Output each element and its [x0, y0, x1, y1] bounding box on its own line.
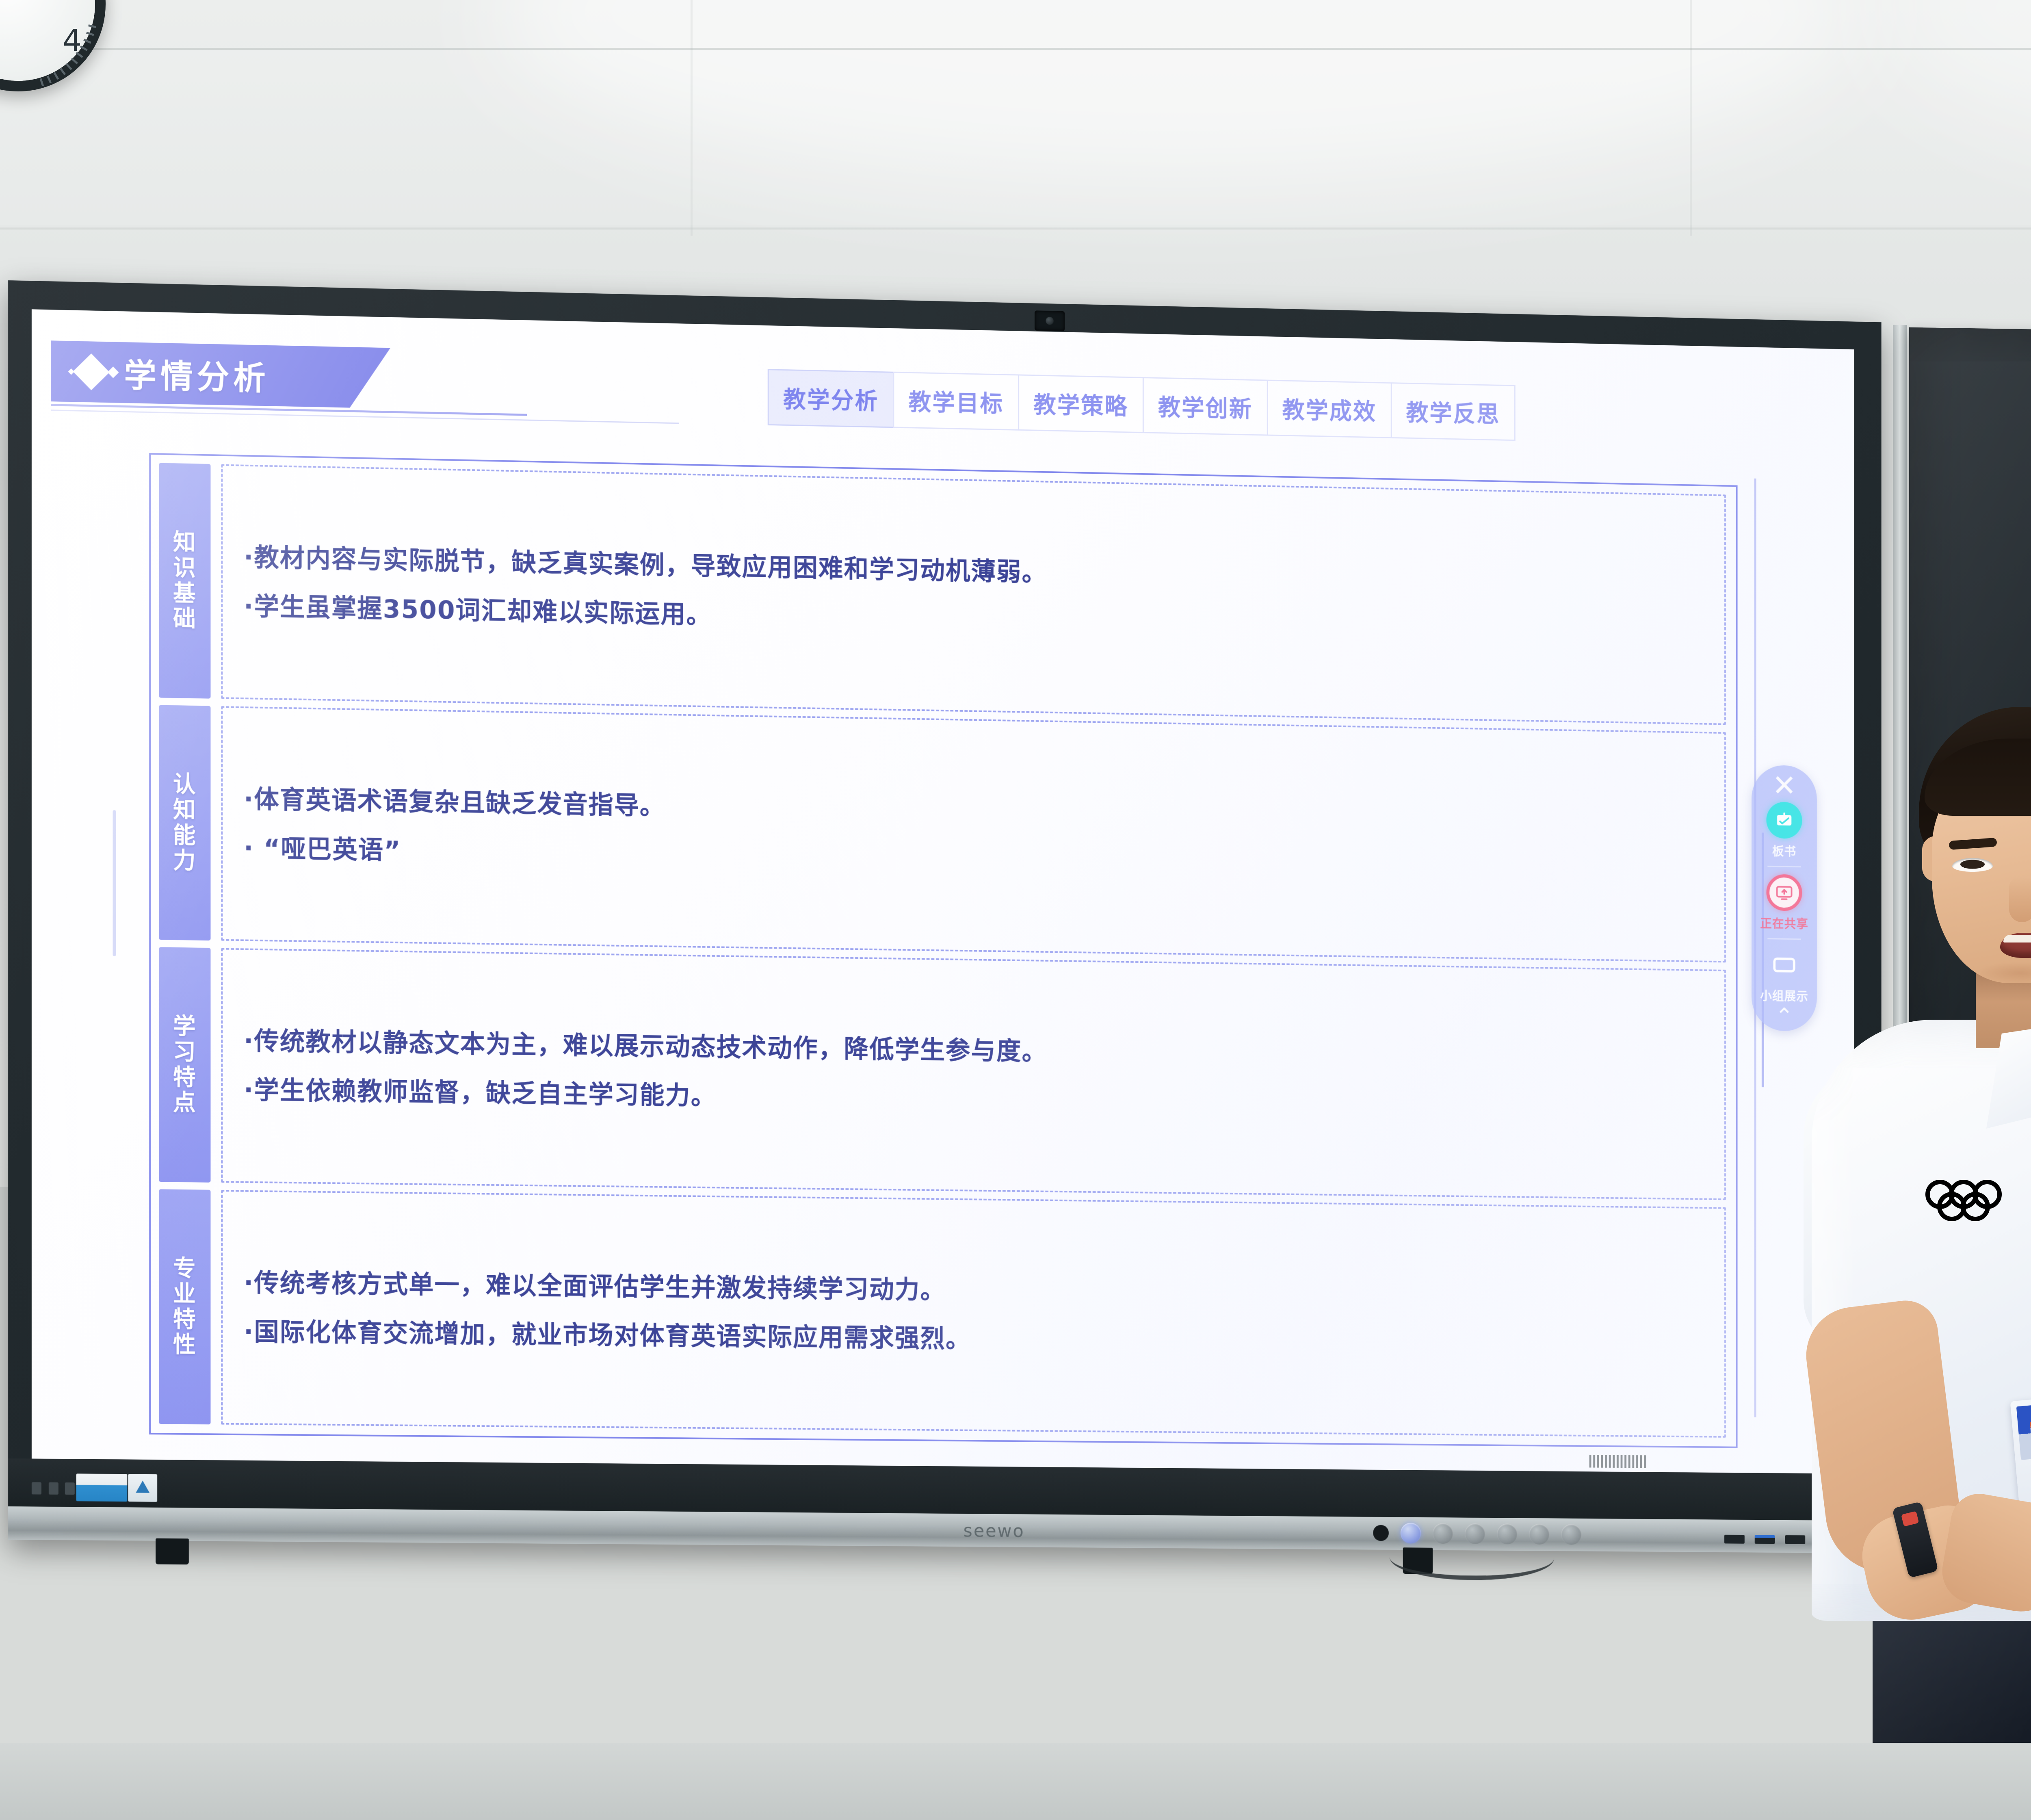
interactive-flat-panel[interactable]: 学情分析 教学分析 教学目标 教学策略 教学创新 教学成效 教学反思 — [8, 280, 1882, 1553]
display-button[interactable] — [1561, 1524, 1581, 1545]
label-char: 识 — [173, 555, 197, 581]
toolbar-divider — [1767, 866, 1801, 867]
display-button[interactable] — [1497, 1523, 1517, 1544]
camera-module-icon — [1035, 310, 1065, 331]
presenter-eye-left — [1952, 858, 1993, 872]
row-body: ·传统教材以静态文本为主，难以展示动态技术动作，降低学生参与度。 ·学生依赖教师… — [221, 948, 1726, 1200]
left-rail-marker — [113, 810, 116, 956]
display-button-row[interactable] — [1373, 1523, 1581, 1545]
slide-title-banner: 学情分析 — [51, 340, 390, 408]
page-title: 学情分析 — [124, 349, 269, 399]
row-body: ·传统考核方式单一，难以全面评估学生并激发持续学习动力。 ·国际化体育交流增加，… — [221, 1190, 1726, 1438]
diamond-icon — [69, 358, 118, 385]
row-body: ·教材内容与实际脱节，缺乏真实案例，导致应用困难和学习动机薄弱。 ·学生虽掌握3… — [221, 464, 1726, 725]
display-button[interactable] — [1529, 1524, 1549, 1545]
olympic-rings-icon — [1925, 1180, 2023, 1215]
aux-port[interactable] — [1785, 1535, 1805, 1544]
label-char: 专 — [173, 1256, 197, 1281]
toolbar-label-whiteboard: 板书 — [1772, 841, 1796, 859]
label-char: 学 — [173, 1014, 197, 1040]
close-icon[interactable]: ✕ — [1772, 776, 1796, 797]
chin-shadow — [1977, 962, 2031, 984]
list-item: ·传统考核方式单一，难以全面评估学生并激发持续学习动力。 — [244, 1268, 1704, 1313]
row-body: ·体育英语术语复杂且缺乏发音指导。 · “哑巴英语” — [221, 706, 1726, 962]
speaker-icon — [65, 1482, 75, 1495]
toolbar-label-screen-share: 正在共享 — [1760, 913, 1808, 932]
presenter: ★ ★ ★ ★ ★ TEAM CHINA 中国奥运会 — [1812, 707, 2031, 1820]
label-char: 知 — [173, 530, 197, 556]
row-label-learning-traits: 学 习 特 点 — [159, 947, 210, 1182]
label-char: 点 — [173, 1090, 197, 1116]
list-item: · “哑巴英语” — [244, 833, 1704, 886]
tab-teaching-innovation[interactable]: 教学创新 — [1143, 377, 1267, 435]
list-item: ·学生虽掌握3500词汇却难以实际运用。 — [244, 591, 1704, 648]
label-char: 基 — [173, 581, 197, 607]
label-char: 力 — [173, 848, 197, 874]
wall-panel-upper — [0, 50, 2031, 225]
power-button[interactable] — [1401, 1523, 1421, 1544]
brand-logo: seewo — [963, 1521, 1024, 1542]
label-char: 性 — [173, 1332, 197, 1358]
display-screen[interactable]: 学情分析 教学分析 教学目标 教学策略 教学创新 教学成效 教学反思 — [32, 309, 1854, 1473]
label-char: 认 — [173, 772, 197, 798]
row-label-knowledge-base: 知 识 基 础 — [159, 463, 210, 699]
label-char: 础 — [173, 606, 197, 632]
power-cable — [1390, 1556, 1554, 1581]
section-tabs[interactable]: 教学分析 教学目标 教学策略 教学创新 教学成效 教学反思 — [768, 369, 1516, 441]
sensor-icon — [49, 1482, 58, 1495]
toolbar-divider — [1767, 938, 1801, 940]
certification-sticker — [128, 1474, 157, 1501]
tab-teaching-analysis[interactable]: 教学分析 — [768, 369, 893, 428]
clock-tick — [47, 76, 52, 83]
row-label-professional-traits: 专 业 特 性 — [159, 1189, 210, 1424]
speaker-grill — [1589, 1455, 1648, 1468]
list-item: ·国际化体育交流增加，就业市场对体育英语实际应用需求强烈。 — [244, 1317, 1704, 1361]
tab-teaching-objectives[interactable]: 教学目标 — [893, 372, 1018, 431]
presentation-slide[interactable]: 学情分析 教学分析 教学目标 教学策略 教学创新 教学成效 教学反思 — [32, 309, 1854, 1473]
whiteboard-icon[interactable] — [1766, 802, 1802, 838]
clock-tick — [60, 68, 66, 75]
row-label-cognitive-ability: 认 知 能 力 — [159, 705, 210, 940]
power-indicator-icon — [32, 1482, 41, 1494]
label-char: 业 — [173, 1281, 197, 1307]
clock-tick — [53, 72, 59, 80]
floor — [0, 1743, 2031, 1820]
display-button[interactable] — [1465, 1523, 1485, 1544]
screen-share-icon[interactable] — [1766, 874, 1802, 911]
label-char: 特 — [173, 1065, 197, 1090]
list-item: ·体育英语术语复杂且缺乏发音指导。 — [244, 784, 1704, 838]
list-item: ·教材内容与实际脱节，缺乏真实案例，导致应用困难和学习动机薄弱。 — [244, 542, 1704, 600]
table-row: 学 习 特 点 ·传统教材以静态文本为主，难以展示动态技术动作，降低学生参与度。… — [159, 947, 1726, 1200]
rating-sticker — [76, 1473, 128, 1501]
wall-mount-hook — [156, 1538, 189, 1564]
label-char: 习 — [173, 1039, 197, 1065]
analysis-rows: 知 识 基 础 ·教材内容与实际脱节，缺乏真实案例，导致应用困难和学习动机薄弱。… — [153, 456, 1733, 1444]
toolbar-item-screen-share[interactable]: 正在共享 — [1760, 874, 1808, 932]
presenter-nose — [2009, 877, 2031, 922]
microphone-icon[interactable] — [1373, 1525, 1389, 1541]
toolbar-item-group-display[interactable]: 小组展示 — [1760, 946, 1808, 1004]
hdmi-port[interactable] — [1724, 1535, 1745, 1544]
floating-toolbar[interactable]: ✕ 板书 — [1752, 765, 1817, 1032]
tab-teaching-strategy[interactable]: 教学策略 — [1018, 374, 1143, 433]
chevron-up-icon[interactable]: ⌃ — [1775, 1010, 1793, 1023]
list-item: ·传统教材以静态文本为主，难以展示动态技术动作，降低学生参与度。 — [244, 1026, 1704, 1075]
list-item: ·学生依赖教师监督，缺乏自主学习能力。 — [244, 1075, 1704, 1123]
display-ports[interactable] — [1724, 1535, 1805, 1544]
tab-teaching-results[interactable]: 教学成效 — [1267, 380, 1391, 438]
usb-port[interactable] — [1755, 1535, 1775, 1544]
display-button[interactable] — [1433, 1523, 1453, 1544]
label-char: 知 — [173, 797, 197, 823]
label-char: 特 — [173, 1307, 197, 1332]
clock-tick — [65, 63, 72, 70]
toolbar-item-whiteboard[interactable]: 板书 — [1766, 802, 1802, 859]
wall-seam-mid — [0, 227, 2031, 230]
group-display-icon[interactable] — [1766, 946, 1802, 983]
label-char: 能 — [173, 823, 197, 848]
clock-tick — [71, 58, 78, 64]
table-row: 知 识 基 础 ·教材内容与实际脱节，缺乏真实案例，导致应用困难和学习动机薄弱。… — [159, 463, 1726, 725]
clock-tick — [83, 39, 91, 43]
table-row: 认 知 能 力 ·体育英语术语复杂且缺乏发音指导。 · “哑巴英语” — [159, 705, 1726, 962]
classroom-room: 4 5 6 — [0, 0, 2031, 1820]
clock-tick — [40, 78, 44, 87]
tab-teaching-reflection[interactable]: 教学反思 — [1391, 382, 1516, 441]
wall-seam-top — [0, 48, 2031, 50]
table-row: 专 业 特 性 ·传统考核方式单一，难以全面评估学生并激发持续学习动力。 ·国际… — [159, 1189, 1726, 1438]
toolbar-label-group-display: 小组展示 — [1760, 986, 1808, 1004]
